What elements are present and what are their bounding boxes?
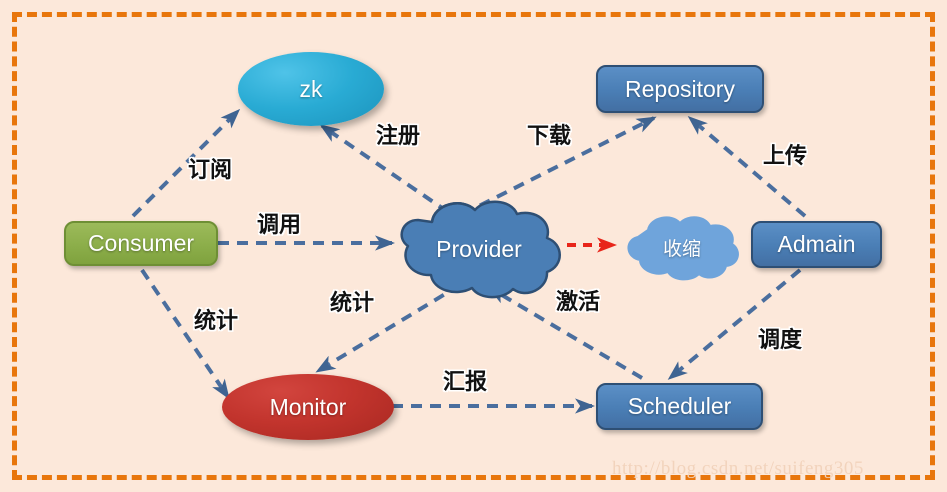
edge-label-subscribe: 订阅 — [188, 152, 232, 184]
node-consumer-label: Consumer — [88, 230, 194, 257]
edge-label-download: 下载 — [527, 118, 571, 150]
node-shrink[interactable]: 收缩 — [618, 210, 746, 284]
edge-label-stats-consumer: 统计 — [194, 303, 238, 335]
edge-label-stats-provider: 统计 — [330, 285, 374, 317]
edge-label-activate: 激活 — [556, 284, 600, 316]
node-monitor[interactable]: Monitor — [222, 374, 394, 440]
node-repository[interactable]: Repository — [596, 65, 764, 113]
edge-label-upload: 上传 — [763, 138, 807, 170]
diagram-canvas: zk Consumer Provider 收缩 Repository Admai… — [0, 0, 947, 492]
node-admain[interactable]: Admain — [751, 221, 882, 268]
node-scheduler-label: Scheduler — [628, 393, 732, 420]
cloud-small-icon — [618, 210, 746, 284]
node-admain-label: Admain — [778, 231, 856, 258]
watermark-text: http://blog.csdn.net/suifeng305 — [612, 458, 864, 480]
node-zk[interactable]: zk — [238, 52, 384, 126]
node-provider[interactable]: Provider — [388, 196, 570, 302]
cloud-icon — [388, 196, 570, 302]
edge-label-schedule: 调度 — [758, 322, 802, 354]
node-repository-label: Repository — [625, 76, 735, 103]
node-scheduler[interactable]: Scheduler — [596, 383, 763, 430]
edge-label-register: 注册 — [376, 118, 420, 150]
edge-label-report: 汇报 — [443, 364, 487, 396]
node-consumer[interactable]: Consumer — [64, 221, 218, 266]
edge-label-invoke: 调用 — [257, 207, 301, 239]
node-zk-label: zk — [300, 76, 323, 103]
node-monitor-label: Monitor — [270, 394, 347, 421]
